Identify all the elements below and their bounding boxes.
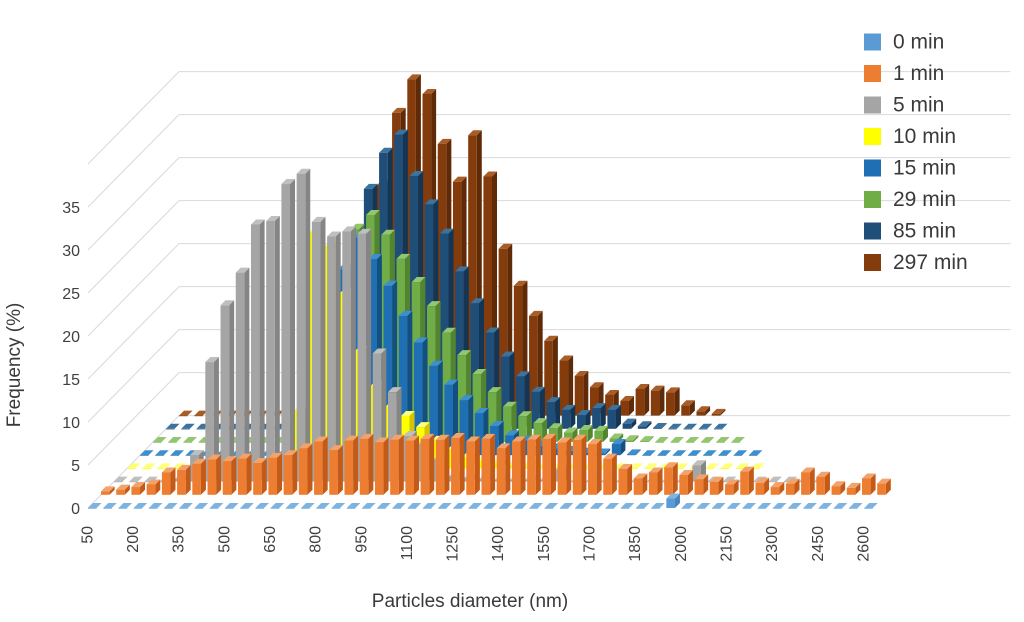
bar — [134, 508, 143, 509]
bar — [162, 472, 171, 494]
legend-label[interactable]: 0 min — [893, 31, 944, 54]
y-tick-label: 10 — [62, 415, 80, 432]
bar — [832, 486, 841, 495]
bar — [347, 508, 356, 509]
bar — [699, 429, 708, 430]
bar — [157, 468, 166, 469]
bar — [179, 416, 188, 417]
x-tick-label: 1550 — [536, 526, 553, 562]
bar — [332, 508, 341, 509]
bar — [408, 508, 417, 509]
y-tick-label: 5 — [71, 458, 80, 475]
bar — [497, 448, 506, 494]
bar — [725, 484, 734, 494]
bar — [673, 455, 682, 456]
bar — [575, 508, 584, 509]
bar — [862, 478, 871, 494]
bar — [640, 441, 649, 442]
legend-swatch[interactable] — [864, 34, 881, 51]
bar — [788, 508, 797, 509]
bar — [877, 484, 886, 495]
bar — [749, 455, 758, 456]
bar-side-face — [551, 434, 556, 495]
bar-side-face — [659, 386, 664, 416]
bar — [666, 392, 675, 415]
x-tick-label: 1100 — [399, 526, 416, 561]
legend-label[interactable]: 5 min — [893, 94, 944, 117]
bar — [377, 508, 386, 509]
bar — [238, 459, 247, 495]
bar-side-face — [414, 436, 419, 495]
bar — [114, 482, 123, 483]
bar — [716, 442, 725, 443]
legend-swatch[interactable] — [864, 160, 881, 177]
bar-side-face — [673, 462, 678, 495]
x-tick-label: 500 — [216, 526, 233, 553]
y-axis-title: Frequency (%) — [4, 303, 25, 428]
bar-side-face — [353, 436, 358, 495]
bar-side-face — [216, 455, 221, 495]
bar — [240, 508, 249, 509]
bar — [849, 508, 858, 509]
bar — [421, 439, 430, 495]
bar — [607, 410, 616, 429]
bar — [696, 411, 705, 415]
bar — [314, 441, 323, 494]
bar — [638, 426, 647, 429]
bar-side-face — [583, 371, 588, 416]
bar — [712, 414, 721, 416]
bar — [181, 429, 190, 430]
bar — [405, 441, 414, 495]
bar — [268, 458, 277, 495]
bar — [668, 429, 677, 430]
y-tick-label: 20 — [62, 329, 80, 346]
x-tick-label: 2150 — [719, 526, 736, 562]
bar-side-face — [444, 435, 449, 495]
bar — [499, 508, 508, 509]
bar — [688, 455, 697, 456]
bar — [718, 455, 727, 456]
bar — [588, 444, 597, 495]
bar — [177, 470, 186, 495]
bar — [612, 444, 621, 455]
bar — [101, 491, 110, 494]
bar — [179, 508, 188, 509]
bar — [423, 508, 432, 509]
bar — [103, 508, 112, 509]
bar — [194, 416, 203, 417]
y-tick-label: 15 — [62, 372, 80, 389]
bar — [127, 468, 136, 469]
bar-side-face — [262, 458, 267, 495]
bar — [625, 440, 634, 442]
bar — [803, 508, 812, 509]
bar — [847, 488, 856, 495]
bar — [236, 273, 245, 482]
bar — [575, 376, 584, 416]
bar — [208, 460, 217, 495]
bar — [223, 461, 232, 495]
bar — [714, 429, 723, 430]
bar — [653, 428, 662, 429]
x-tick-label: 1250 — [445, 526, 462, 562]
bar — [375, 442, 384, 494]
x-tick-label: 950 — [353, 526, 370, 553]
bar-side-face — [475, 436, 480, 494]
bar — [773, 508, 782, 509]
bar — [816, 477, 825, 495]
bar-side-face — [368, 434, 373, 495]
bar — [742, 508, 751, 509]
bar — [529, 508, 538, 509]
bar-side-face — [305, 169, 310, 482]
bar-side-face — [275, 216, 280, 482]
bar — [484, 508, 493, 509]
bar — [712, 508, 721, 509]
bar — [655, 442, 664, 443]
bar — [786, 484, 795, 495]
bar — [286, 508, 295, 509]
bar — [664, 467, 673, 495]
bar — [740, 472, 749, 495]
bar — [545, 508, 554, 509]
bar — [451, 438, 460, 495]
bar — [562, 410, 571, 429]
bar — [281, 184, 290, 482]
bar — [116, 490, 125, 495]
bar — [605, 508, 614, 509]
bar — [195, 508, 204, 509]
bar — [701, 442, 710, 443]
y-tick-label: 0 — [71, 501, 80, 518]
bar — [527, 440, 536, 495]
x-tick-label: 2300 — [764, 526, 781, 562]
bar — [644, 468, 653, 469]
x-tick-label: 2450 — [810, 526, 827, 562]
bar — [221, 305, 230, 481]
x-tick-label: 650 — [262, 526, 279, 553]
bar — [316, 508, 325, 509]
bar-side-face — [247, 454, 252, 495]
bar — [255, 508, 264, 509]
bar — [721, 468, 730, 469]
bar — [634, 478, 643, 494]
bar — [142, 468, 151, 469]
bar — [801, 472, 810, 494]
bar-side-face — [521, 436, 526, 494]
bar — [710, 482, 719, 495]
bar — [210, 508, 219, 509]
x-tick-label: 2600 — [856, 526, 873, 562]
bar — [620, 401, 629, 416]
bar-side-face — [505, 443, 510, 494]
bar — [771, 487, 780, 495]
bar-side-face — [307, 443, 312, 494]
bar-side-face — [536, 435, 541, 495]
bar — [164, 508, 173, 509]
x-tick-label: 50 — [79, 526, 96, 544]
bar — [649, 472, 658, 494]
bar — [651, 508, 660, 509]
bar-side-face — [260, 219, 265, 481]
bar — [192, 464, 201, 495]
bar-side-face — [290, 179, 295, 482]
bar — [758, 508, 767, 509]
bar — [755, 483, 764, 495]
legend-label[interactable]: 10 min — [893, 125, 956, 148]
bar — [166, 429, 175, 430]
bar — [623, 424, 632, 429]
bar — [682, 508, 691, 509]
bar — [88, 508, 97, 509]
bar — [731, 442, 740, 443]
bar — [469, 508, 478, 509]
bar — [436, 440, 445, 495]
x-tick-label: 200 — [125, 526, 142, 553]
bar — [438, 508, 447, 509]
bar — [681, 405, 690, 415]
bar — [542, 439, 551, 495]
legend-label[interactable]: 1 min — [893, 62, 944, 85]
bar — [834, 508, 843, 509]
x-tick-label: 2000 — [673, 526, 690, 562]
bar — [253, 463, 262, 495]
x-axis-title: Particles diameter (nm) — [372, 591, 568, 612]
bar-side-face — [597, 439, 602, 495]
x-tick-label: 1850 — [627, 526, 644, 562]
bar — [360, 439, 369, 495]
bar-side-face — [186, 465, 191, 495]
bar — [618, 469, 627, 495]
legend-swatch[interactable] — [864, 254, 881, 271]
bar — [155, 455, 164, 456]
bar — [705, 468, 714, 469]
bar — [703, 455, 712, 456]
bar — [727, 508, 736, 509]
bar-side-face — [429, 434, 434, 495]
bar — [362, 508, 371, 509]
bar — [657, 455, 666, 456]
bar — [153, 442, 162, 443]
bar — [118, 508, 127, 509]
bar — [225, 508, 234, 509]
bar — [149, 508, 158, 509]
bar-side-face — [292, 450, 297, 495]
legend-label[interactable]: 15 min — [893, 157, 956, 180]
bar-side-face — [229, 300, 234, 481]
bar — [683, 429, 692, 430]
legend-swatch[interactable] — [864, 128, 881, 145]
bar-side-face — [460, 433, 465, 495]
bar — [592, 408, 601, 429]
bar — [651, 391, 660, 416]
x-tick-label: 1400 — [490, 526, 507, 562]
x-tick-label: 800 — [308, 526, 325, 553]
bar — [170, 455, 179, 456]
bar-side-face — [566, 437, 571, 494]
bar — [140, 455, 149, 456]
bar — [819, 508, 828, 509]
bar-side-face — [244, 268, 249, 482]
bar-side-face — [627, 464, 632, 495]
bar — [301, 508, 310, 509]
bar — [327, 237, 336, 482]
bar — [183, 442, 192, 443]
bar — [390, 440, 399, 495]
bar — [453, 508, 462, 509]
bar — [266, 221, 275, 482]
x-tick-label: 350 — [171, 526, 188, 553]
bar — [131, 487, 140, 495]
y-tick-label: 35 — [62, 200, 80, 217]
bar — [679, 475, 688, 495]
bar-side-face — [644, 384, 649, 416]
bar — [196, 429, 205, 430]
bar — [686, 442, 695, 443]
bar-side-face — [277, 453, 282, 495]
bar — [329, 450, 338, 495]
legend-label[interactable]: 85 min — [893, 220, 956, 243]
bar — [573, 440, 582, 495]
bar — [590, 508, 599, 509]
bar — [345, 441, 354, 495]
bar — [734, 455, 743, 456]
bar — [392, 508, 401, 509]
legend-swatch[interactable] — [864, 223, 881, 240]
bar — [670, 442, 679, 443]
bar-side-face — [399, 435, 404, 495]
bar-side-face — [201, 459, 206, 495]
legend-swatch[interactable] — [864, 65, 881, 82]
chart-canvas: 05101520253035 5020035050065080095011001… — [0, 0, 1024, 622]
bar — [666, 499, 675, 508]
legend-label[interactable]: 297 min — [893, 251, 968, 274]
bar — [466, 441, 475, 494]
bar — [251, 224, 260, 481]
bar — [514, 508, 523, 509]
bar-side-face — [490, 434, 495, 495]
bar-side-face — [231, 456, 236, 495]
bar — [603, 459, 612, 495]
bar — [695, 479, 704, 494]
bar-side-face — [581, 435, 586, 495]
bar — [299, 448, 308, 494]
bar — [482, 439, 491, 495]
y-tick-label: 25 — [62, 286, 80, 303]
bar — [168, 442, 177, 443]
legend-label[interactable]: 29 min — [893, 188, 956, 211]
legend-swatch[interactable] — [864, 97, 881, 114]
bar — [636, 508, 645, 509]
bar-side-face — [323, 436, 328, 494]
bar — [558, 442, 567, 494]
bar-side-face — [612, 454, 617, 495]
bar-side-face — [384, 437, 389, 494]
bar — [560, 508, 569, 509]
bar — [271, 508, 280, 509]
bar — [636, 389, 645, 416]
bar — [627, 454, 636, 455]
legend-swatch[interactable] — [864, 191, 881, 208]
bar — [297, 174, 306, 482]
bar — [697, 508, 706, 509]
bar — [147, 484, 156, 494]
bar — [642, 455, 651, 456]
y-tick-label: 30 — [62, 243, 80, 260]
x-tick-label: 1700 — [582, 526, 599, 562]
bar — [621, 508, 630, 509]
bar-side-face — [336, 232, 341, 482]
bar-side-face — [338, 445, 343, 495]
bar — [512, 441, 521, 494]
bar — [864, 508, 873, 509]
bar — [284, 455, 293, 495]
